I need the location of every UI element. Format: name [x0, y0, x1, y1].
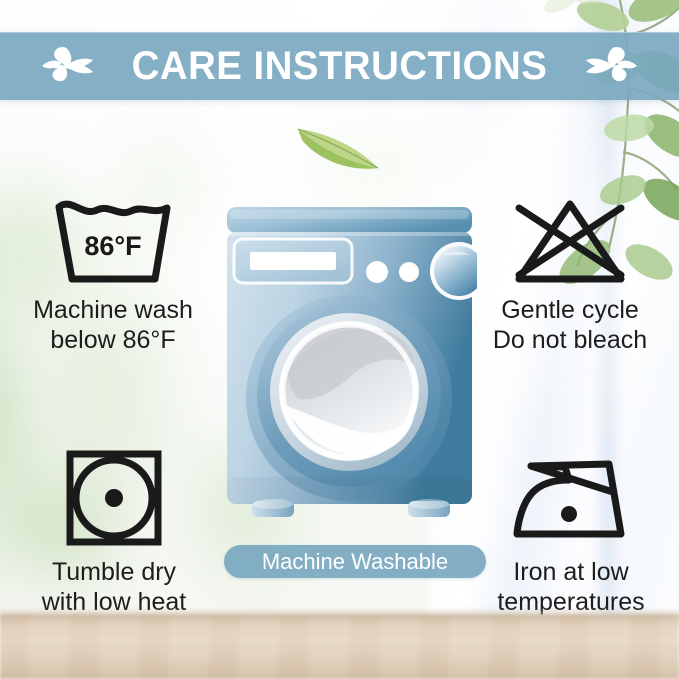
fleur-de-lis-icon: [582, 42, 640, 90]
page-title: CARE INSTRUCTIONS: [132, 46, 548, 86]
care-instructions-graphic: CARE INSTRUCTIONS: [0, 0, 679, 679]
care-item-tumble-dry: Tumble dry with low heat: [14, 446, 214, 617]
care-item-machine-wash: 86°F Machine wash below 86°F: [8, 193, 218, 355]
care-item-label: Gentle cycle Do not bleach: [465, 295, 675, 355]
iron-one-dot-icon: [471, 446, 671, 550]
leaf-icon: [292, 116, 384, 178]
care-item-do-not-bleach: Gentle cycle Do not bleach: [465, 193, 675, 355]
wash-tub-icon: 86°F: [8, 193, 218, 288]
header-banner: CARE INSTRUCTIONS: [0, 32, 679, 100]
tumble-dry-low-icon: [14, 446, 214, 550]
wash-tub-temperature: 86°F: [84, 231, 141, 261]
status-badge: Machine Washable: [224, 545, 486, 578]
care-item-iron-low: Iron at low temperatures: [471, 446, 671, 617]
fleur-de-lis-icon: [39, 42, 97, 90]
washing-machine-icon: [222, 205, 477, 535]
triangle-crossed-out-icon: [465, 193, 675, 288]
care-item-label: Tumble dry with low heat: [14, 557, 214, 617]
care-item-label: Iron at low temperatures: [471, 557, 671, 617]
care-item-label: Machine wash below 86°F: [8, 295, 218, 355]
wooden-table-surface: [0, 615, 679, 679]
status-badge-label: Machine Washable: [262, 551, 448, 573]
